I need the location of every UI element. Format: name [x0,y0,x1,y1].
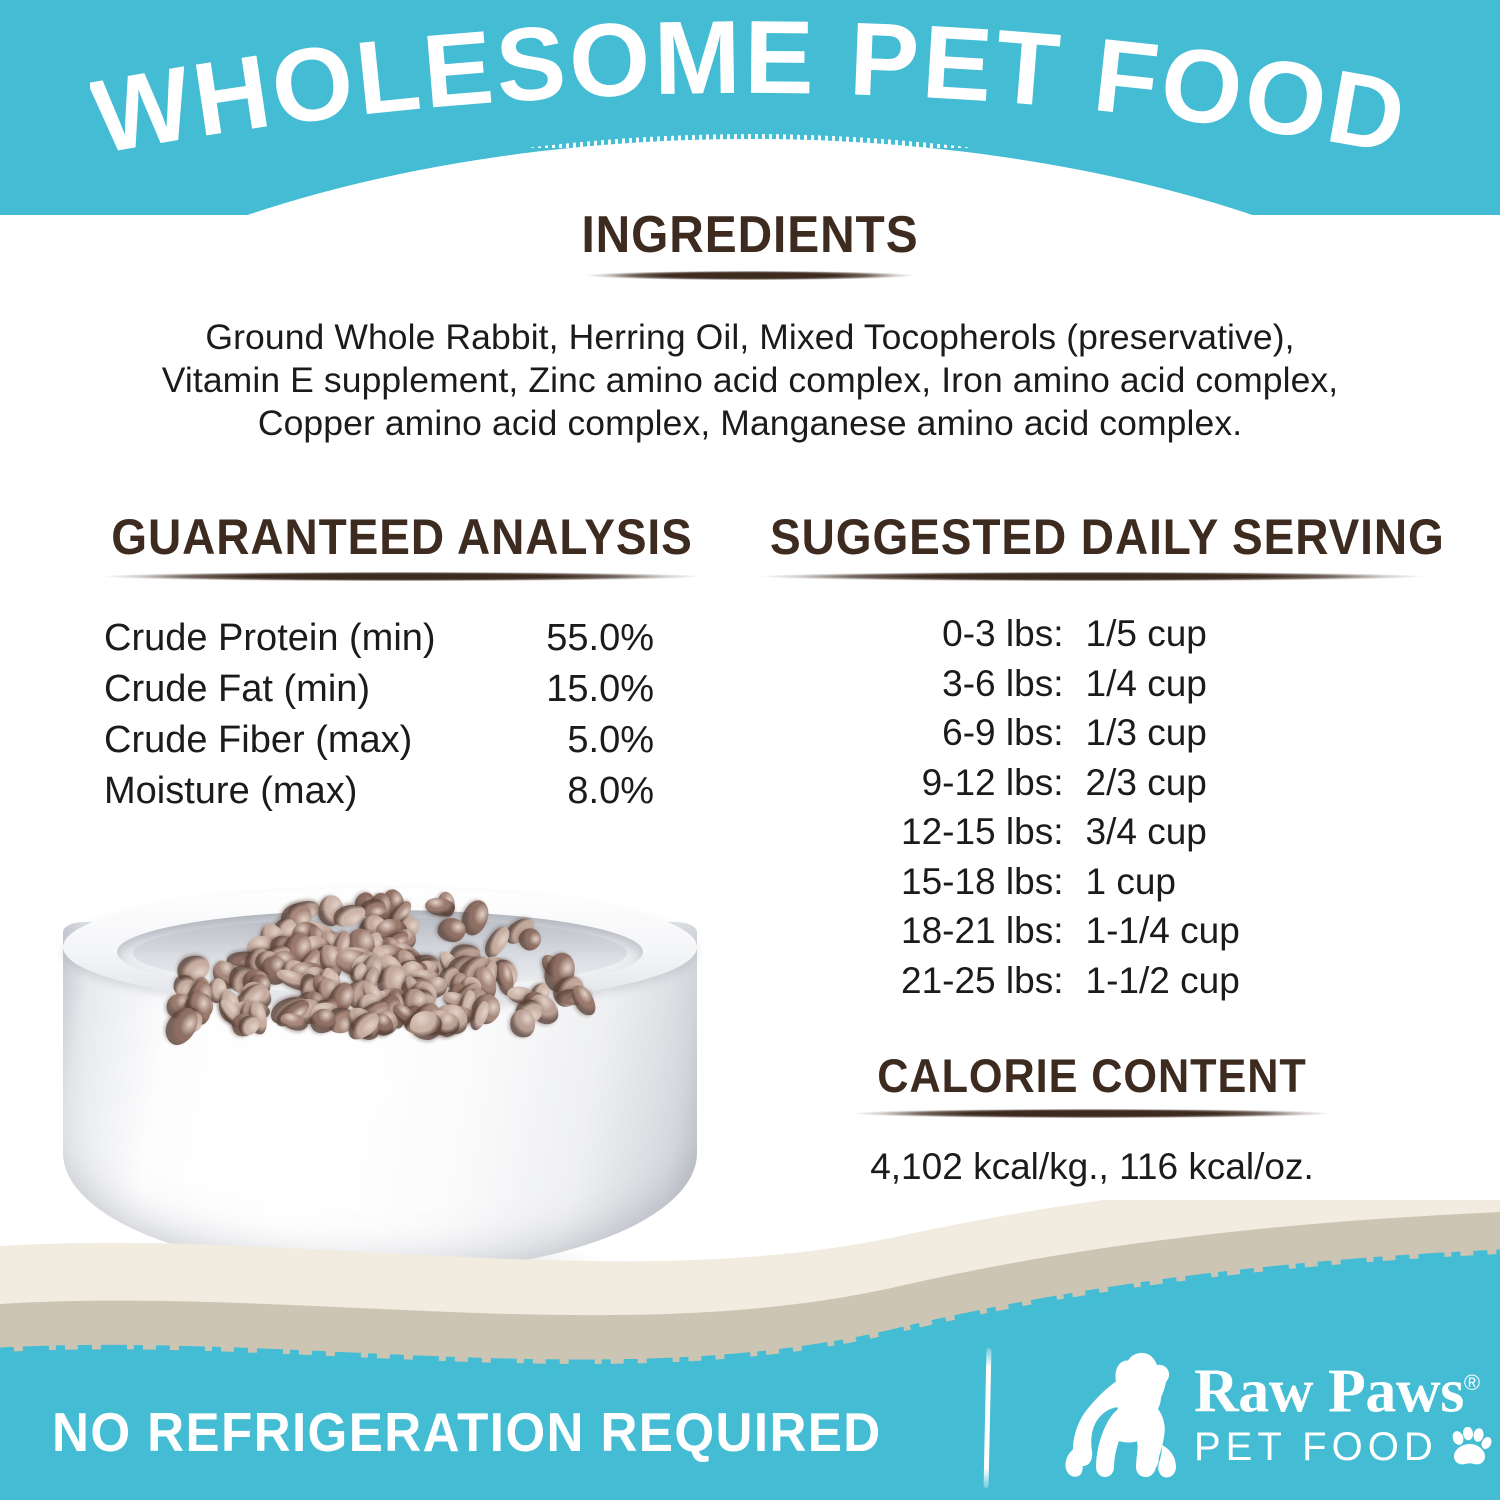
ingredients-heading: INGREDIENTS [60,205,1440,265]
table-row: 9-12 lbs: 2/3 cup [742,758,1442,808]
guaranteed-analysis-divider [102,572,702,581]
brand-logo: Raw Paws® PET FOOD [1062,1345,1482,1490]
nutrient-value: 8.0% [474,766,654,817]
serving-weight: 21-25 lbs: [849,956,1064,1006]
serving-table: 0-3 lbs: 1/5 cup 3-6 lbs: 1/4 cup 6-9 lb… [742,609,1442,1005]
paw-print-icon [1448,1427,1492,1467]
calorie-content-heading: CALORIE CONTENT [770,1048,1414,1103]
serving-weight: 0-3 lbs: [849,609,1064,659]
nutrient-label: Moisture (max) [104,766,474,817]
kibble-pile [155,874,615,1034]
suggested-daily-serving-divider [758,572,1426,581]
serving-amount: 1/4 cup [1064,659,1336,709]
serving-amount: 1/5 cup [1064,609,1336,659]
header-band: WHOLESOME PET FOOD [0,0,1500,215]
nutrient-value: 15.0% [474,664,654,715]
ingredients-line: Ground Whole Rabbit, Herring Oil, Mixed … [105,316,1395,359]
dog-and-cat-silhouette-icon [1062,1349,1192,1481]
table-row: Crude Fiber (max) 5.0% [104,715,742,766]
ingredients-text: Ground Whole Rabbit, Herring Oil, Mixed … [105,316,1395,445]
registered-trademark-icon: ® [1464,1370,1480,1395]
nutrient-value: 55.0% [474,613,654,664]
nutrient-label: Crude Fat (min) [104,664,474,715]
ingredients-line: Vitamin E supplement, Zinc amino acid co… [105,359,1395,402]
serving-weight: 6-9 lbs: [849,708,1064,758]
serving-amount: 2/3 cup [1064,758,1336,808]
guaranteed-analysis-section: GUARANTEED ANALYSIS Crude Protein (min) … [62,508,742,817]
serving-weight: 3-6 lbs: [849,659,1064,709]
ingredients-line: Copper amino acid complex, Manganese ami… [105,402,1395,445]
table-row: 18-21 lbs: 1-1/4 cup [742,906,1442,956]
suggested-daily-serving-heading: SUGGESTED DAILY SERVING [770,508,1414,566]
nutrient-value: 5.0% [474,715,654,766]
guaranteed-analysis-table: Crude Protein (min) 55.0% Crude Fat (min… [62,613,742,817]
serving-amount: 1/3 cup [1064,708,1336,758]
table-row: 12-15 lbs: 3/4 cup [742,807,1442,857]
table-row: Crude Protein (min) 55.0% [104,613,742,664]
ingredients-section: INGREDIENTS Ground Whole Rabbit, Herring… [0,205,1500,445]
pet-food-label: WHOLESOME PET FOOD INGREDIENTS Ground Wh… [0,0,1500,1500]
serving-amount: 1-1/4 cup [1064,906,1336,956]
table-row: Moisture (max) 8.0% [104,766,742,817]
brand-name-text: Raw Paws [1194,1358,1464,1426]
serving-amount: 1 cup [1064,857,1336,907]
bowl-highlight [213,1042,513,1192]
serving-weight: 18-21 lbs: [849,906,1064,956]
brand-tagline: PET FOOD [1194,1424,1494,1470]
serving-weight: 9-12 lbs: [849,758,1064,808]
serving-amount: 1-1/2 cup [1064,956,1336,1006]
ingredients-divider [585,271,915,280]
table-row: 3-6 lbs: 1/4 cup [742,659,1442,709]
nutrient-label: Crude Fiber (max) [104,715,474,766]
serving-weight: 15-18 lbs: [849,857,1064,907]
serving-amount: 3/4 cup [1064,807,1336,857]
table-row: Crude Fat (min) 15.0% [104,664,742,715]
table-row: 0-3 lbs: 1/5 cup [742,609,1442,659]
brand-name: Raw Paws® [1194,1351,1494,1424]
table-row: 15-18 lbs: 1 cup [742,857,1442,907]
calorie-content-section: CALORIE CONTENT 4,102 kcal/kg., 116 kcal… [742,1048,1442,1188]
table-row: 21-25 lbs: 1-1/2 cup [742,956,1442,1006]
table-row: 6-9 lbs: 1/3 cup [742,708,1442,758]
suggested-daily-serving-section: SUGGESTED DAILY SERVING 0-3 lbs: 1/5 cup… [742,508,1442,1005]
nutrient-label: Crude Protein (min) [104,613,474,664]
serving-weight: 12-15 lbs: [849,807,1064,857]
calorie-content-divider [852,1109,1332,1118]
guaranteed-analysis-heading: GUARANTEED ANALYSIS [89,508,715,566]
brand-logo-text: Raw Paws® PET FOOD [1194,1351,1494,1470]
calorie-content-value: 4,102 kcal/kg., 116 kcal/oz. [742,1146,1442,1188]
no-refrigeration-claim: NO REFRIGERATION REQUIRED [52,1400,882,1464]
brand-tagline-text: PET FOOD [1194,1424,1438,1470]
